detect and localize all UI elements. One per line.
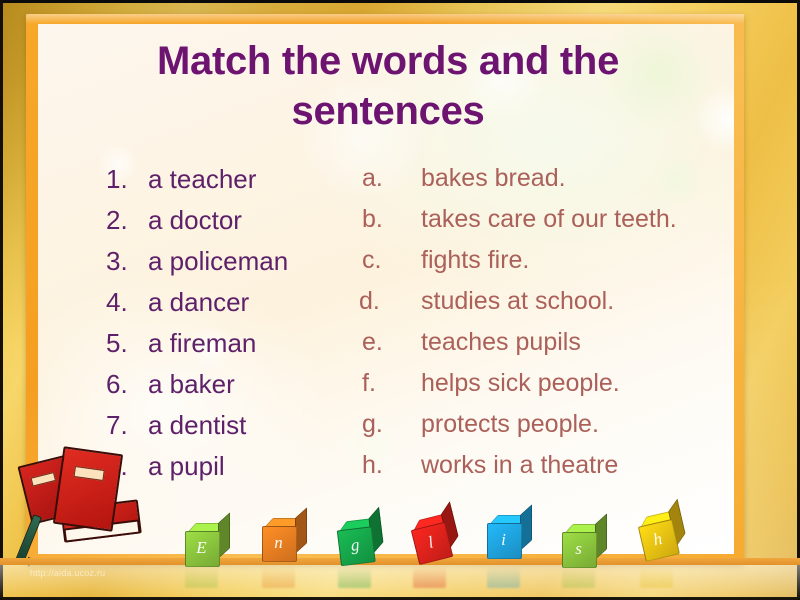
sentence-marker: a. (362, 164, 406, 193)
sentence-marker: f. (362, 369, 406, 398)
cube-reflection (640, 566, 673, 588)
match-row: 1. a teacher a. bakes bread. (38, 164, 734, 205)
word-marker: 6. (106, 369, 146, 400)
cube-letter: E (185, 531, 218, 565)
match-row: 6. a baker f. helps sick people. (38, 369, 734, 410)
slide-left-edge (0, 0, 3, 600)
word-marker: 4. (106, 287, 146, 318)
sentence-item[interactable]: protects people. (421, 410, 599, 439)
letter-cube-i: i (487, 515, 527, 555)
cube-letter: i (487, 523, 520, 557)
sentence-marker: h. (362, 451, 406, 480)
sentence-item[interactable]: fights fire. (421, 246, 529, 275)
cube-reflection (487, 566, 520, 588)
shelf-glow (0, 565, 800, 599)
word-marker: 3. (106, 246, 146, 277)
word-item[interactable]: a doctor (148, 205, 242, 236)
watermark: http://aida.ucoz.ru (30, 568, 105, 578)
sentence-item[interactable]: works in a theatre (421, 451, 618, 480)
match-row: 2. a doctor b. takes care of our teeth. (38, 205, 734, 246)
letter-cube-s: s (562, 524, 602, 564)
letter-cube-n: n (262, 518, 302, 558)
cube-letter: s (562, 532, 595, 566)
bokeh-sparkle (694, 84, 734, 154)
cube-reflection (562, 566, 595, 588)
word-item[interactable]: a dentist (148, 410, 246, 441)
match-row: 5. a fireman e. teaches pupils (38, 328, 734, 369)
sentence-marker: d. (359, 287, 403, 316)
sentence-marker: b. (362, 205, 406, 234)
word-marker: 1. (106, 164, 146, 195)
letter-cube-l: l (409, 513, 457, 561)
books-illustration (18, 442, 146, 552)
match-row: 3. a policeman c. fights fire. (38, 246, 734, 287)
cube-reflection (338, 566, 371, 588)
shelf-line (0, 558, 800, 565)
sentence-marker: g. (362, 410, 406, 439)
word-item[interactable]: a baker (148, 369, 235, 400)
match-row: 4. a dancer d. studies at school. (38, 287, 734, 328)
word-marker: 7. (106, 410, 146, 441)
slide: Match the words and the sentences 1. a t… (0, 0, 800, 600)
sentence-item[interactable]: takes care of our teeth. (421, 205, 677, 234)
word-item[interactable]: a dancer (148, 287, 249, 318)
sentence-item[interactable]: bakes bread. (421, 164, 566, 193)
cube-reflection (185, 566, 218, 588)
book-icon (53, 446, 123, 532)
word-item[interactable]: a teacher (148, 164, 256, 195)
cube-letter: g (337, 527, 374, 565)
word-marker: 5. (106, 328, 146, 359)
word-item[interactable]: a policeman (148, 246, 288, 277)
word-marker: 2. (106, 205, 146, 236)
cube-letter: n (262, 526, 295, 560)
letter-cube-h: h (636, 510, 684, 558)
word-item[interactable]: a fireman (148, 328, 256, 359)
letter-cube-g: g (336, 518, 381, 563)
cube-reflection (413, 566, 446, 588)
letter-cube-e: E (185, 523, 225, 563)
sentence-item[interactable]: helps sick people. (421, 369, 620, 398)
slide-title: Match the words and the sentences (98, 36, 678, 136)
sentence-item[interactable]: studies at school. (421, 287, 614, 316)
sentence-item[interactable]: teaches pupils (421, 328, 581, 357)
word-item[interactable]: a pupil (148, 451, 225, 482)
sentence-marker: c. (362, 246, 406, 275)
sentence-marker: e. (362, 328, 406, 357)
slide-top-edge (0, 0, 800, 3)
cube-reflection (262, 566, 295, 588)
